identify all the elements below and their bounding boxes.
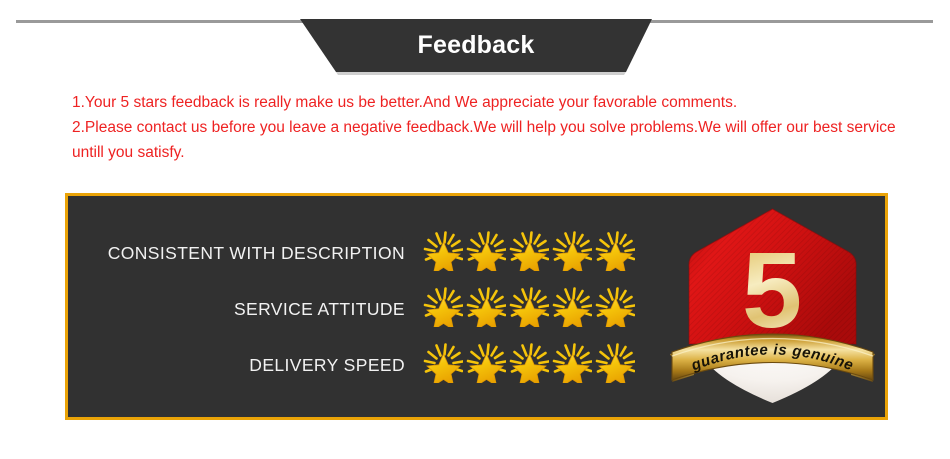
rating-label-service-attitude: SERVICE ATTITUDE (234, 299, 423, 320)
sparkle-star-icon (466, 343, 506, 388)
table-row: DELIVERY SPEED (68, 342, 638, 389)
rating-stars-delivery-speed (423, 343, 638, 388)
sparkle-star-icon (552, 287, 592, 332)
feedback-page: Feedback 1.Your 5 stars feedback is real… (0, 0, 950, 459)
feedback-note-1: 1.Your 5 stars feedback is really make u… (72, 90, 902, 115)
sparkle-star-icon (423, 287, 463, 332)
sparkle-star-icon (423, 231, 463, 276)
badge-number: 5 (742, 229, 802, 350)
rating-row-list: CONSISTENT WITH DESCRIPTION SERVICE ATTI… (68, 230, 638, 398)
rating-label-delivery-speed: DELIVERY SPEED (249, 355, 423, 376)
sparkle-star-icon (509, 231, 549, 276)
rating-label-consistent-with-description: CONSISTENT WITH DESCRIPTION (108, 243, 423, 264)
sparkle-star-icon (552, 343, 592, 388)
sparkle-star-icon (509, 287, 549, 332)
table-row: CONSISTENT WITH DESCRIPTION (68, 230, 638, 277)
table-row: SERVICE ATTITUDE (68, 286, 638, 333)
guarantee-shield-icon: 5 guarantee is genuine (660, 196, 885, 417)
rating-stars-consistent-with-description (423, 231, 638, 276)
feedback-note-2: 2.Please contact us before you leave a n… (72, 115, 902, 165)
sparkle-star-icon (595, 343, 635, 388)
rating-panel: CONSISTENT WITH DESCRIPTION SERVICE ATTI… (65, 193, 888, 420)
feedback-notes: 1.Your 5 stars feedback is really make u… (72, 90, 902, 165)
rating-stars-service-attitude (423, 287, 638, 332)
sparkle-star-icon (466, 231, 506, 276)
sparkle-star-icon (423, 343, 463, 388)
sparkle-star-icon (509, 343, 549, 388)
sparkle-star-icon (552, 231, 592, 276)
page-title: Feedback (300, 19, 652, 75)
sparkle-star-icon (466, 287, 506, 332)
sparkle-star-icon (595, 231, 635, 276)
sparkle-star-icon (595, 287, 635, 332)
